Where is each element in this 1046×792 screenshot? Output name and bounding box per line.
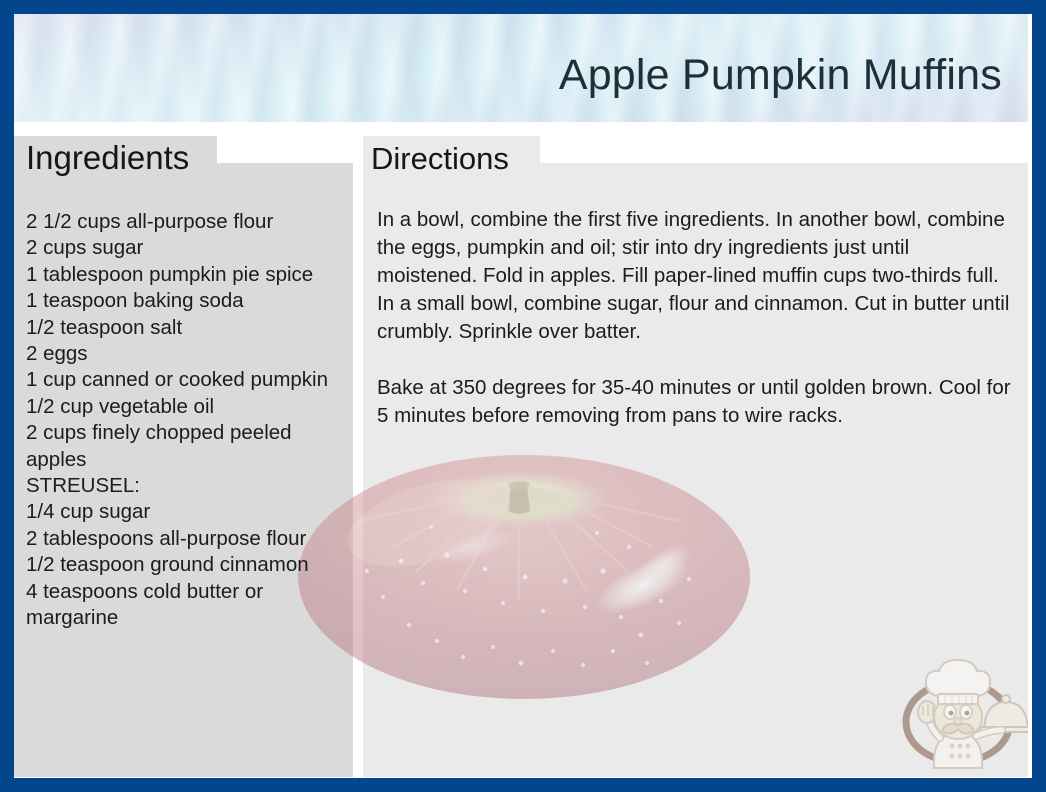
list-item: 1/2 teaspoon salt: [26, 315, 356, 341]
directions-body: In a bowl, combine the first five ingred…: [377, 206, 1015, 430]
ingredients-heading: Ingredients: [26, 138, 199, 180]
list-item: 4 teaspoons cold butter or: [26, 579, 356, 605]
list-item: margarine: [26, 605, 356, 631]
list-item: 2 tablespoons all-purpose flour: [26, 526, 356, 552]
directions-panel: Directions In a bowl, combine the first …: [363, 163, 1028, 777]
list-item: 1/4 cup sugar: [26, 499, 356, 525]
page-title: Apple Pumpkin Muffins: [559, 50, 1002, 100]
list-item: apples: [26, 447, 356, 473]
list-item: 2 cups sugar: [26, 235, 356, 261]
list-item: 1 tablespoon pumpkin pie spice: [26, 262, 356, 288]
list-item: 2 cups finely chopped peeled: [26, 420, 356, 446]
list-item: 2 1/2 cups all-purpose flour: [26, 209, 356, 235]
list-item: 2 eggs: [26, 341, 356, 367]
list-item: 1 cup canned or cooked pumpkin: [26, 367, 356, 393]
ingredient-list: 2 1/2 cups all-purpose flour 2 cups suga…: [26, 209, 356, 632]
ingredients-panel: Ingredients 2 1/2 cups all-purpose flour…: [14, 163, 353, 777]
list-item: 1/2 teaspoon ground cinnamon: [26, 552, 356, 578]
directions-paragraph: Bake at 350 degrees for 35-40 minutes or…: [377, 374, 1015, 430]
list-item: 1 teaspoon baking soda: [26, 288, 356, 314]
directions-paragraph: In a bowl, combine the first five ingred…: [377, 206, 1015, 346]
title-banner: Apple Pumpkin Muffins: [14, 14, 1028, 122]
directions-heading: Directions: [371, 140, 519, 180]
list-item: 1/2 cup vegetable oil: [26, 394, 356, 420]
list-item: STREUSEL:: [26, 473, 356, 499]
recipe-slide: Apple Pumpkin Muffins Ingredients 2 1/2 …: [0, 0, 1046, 792]
